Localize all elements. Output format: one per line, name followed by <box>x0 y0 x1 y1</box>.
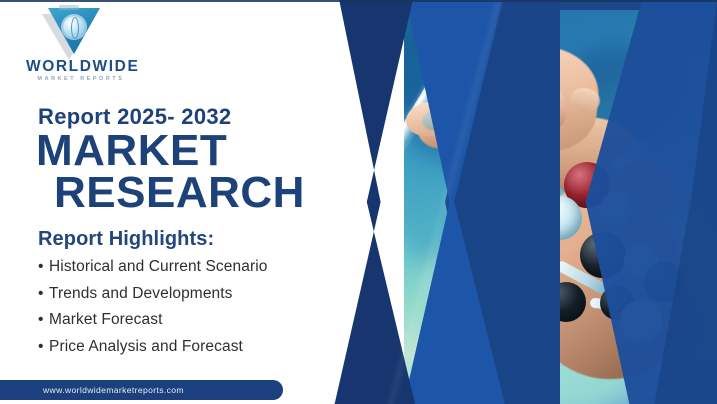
page-title: MARKET RESEARCH <box>36 130 305 214</box>
list-item-label: Historical and Current Scenario <box>49 258 267 275</box>
highlights-list: •Historical and Current Scenario •Trends… <box>38 254 267 360</box>
globe-icon <box>63 16 85 38</box>
list-item: •Market Forecast <box>38 307 267 334</box>
brand-name: WORLDWIDE <box>26 58 136 76</box>
logo-tick-mark <box>59 5 79 10</box>
list-item-label: Trends and Developments <box>49 285 233 302</box>
page-title-line-2: RESEARCH <box>36 172 305 214</box>
website-url[interactable]: www.worldwidemarketreports.com <box>43 385 184 395</box>
bullet-icon: • <box>38 254 49 281</box>
top-hairline-divider <box>0 0 717 2</box>
list-item-label: Price Analysis and Forecast <box>49 338 243 355</box>
worldwide-globe-triangle-logo-icon <box>40 6 102 60</box>
highlights-heading: Report Highlights: <box>38 228 214 251</box>
list-item: •Price Analysis and Forecast <box>38 334 267 361</box>
list-item: •Trends and Developments <box>38 281 267 308</box>
bullet-icon: • <box>38 281 49 308</box>
footer-url-bar[interactable]: www.worldwidemarketreports.com <box>0 380 283 400</box>
bullet-icon: • <box>38 307 49 334</box>
list-item-label: Market Forecast <box>49 311 162 328</box>
report-cover: WORLDWIDE MARKET REPORTS Report 2025- 20… <box>0 0 717 404</box>
list-item: •Historical and Current Scenario <box>38 254 267 281</box>
brand-logo[interactable]: WORLDWIDE MARKET REPORTS <box>26 6 136 86</box>
brand-tagline: MARKET REPORTS <box>26 76 136 82</box>
bullet-icon: • <box>38 334 49 361</box>
